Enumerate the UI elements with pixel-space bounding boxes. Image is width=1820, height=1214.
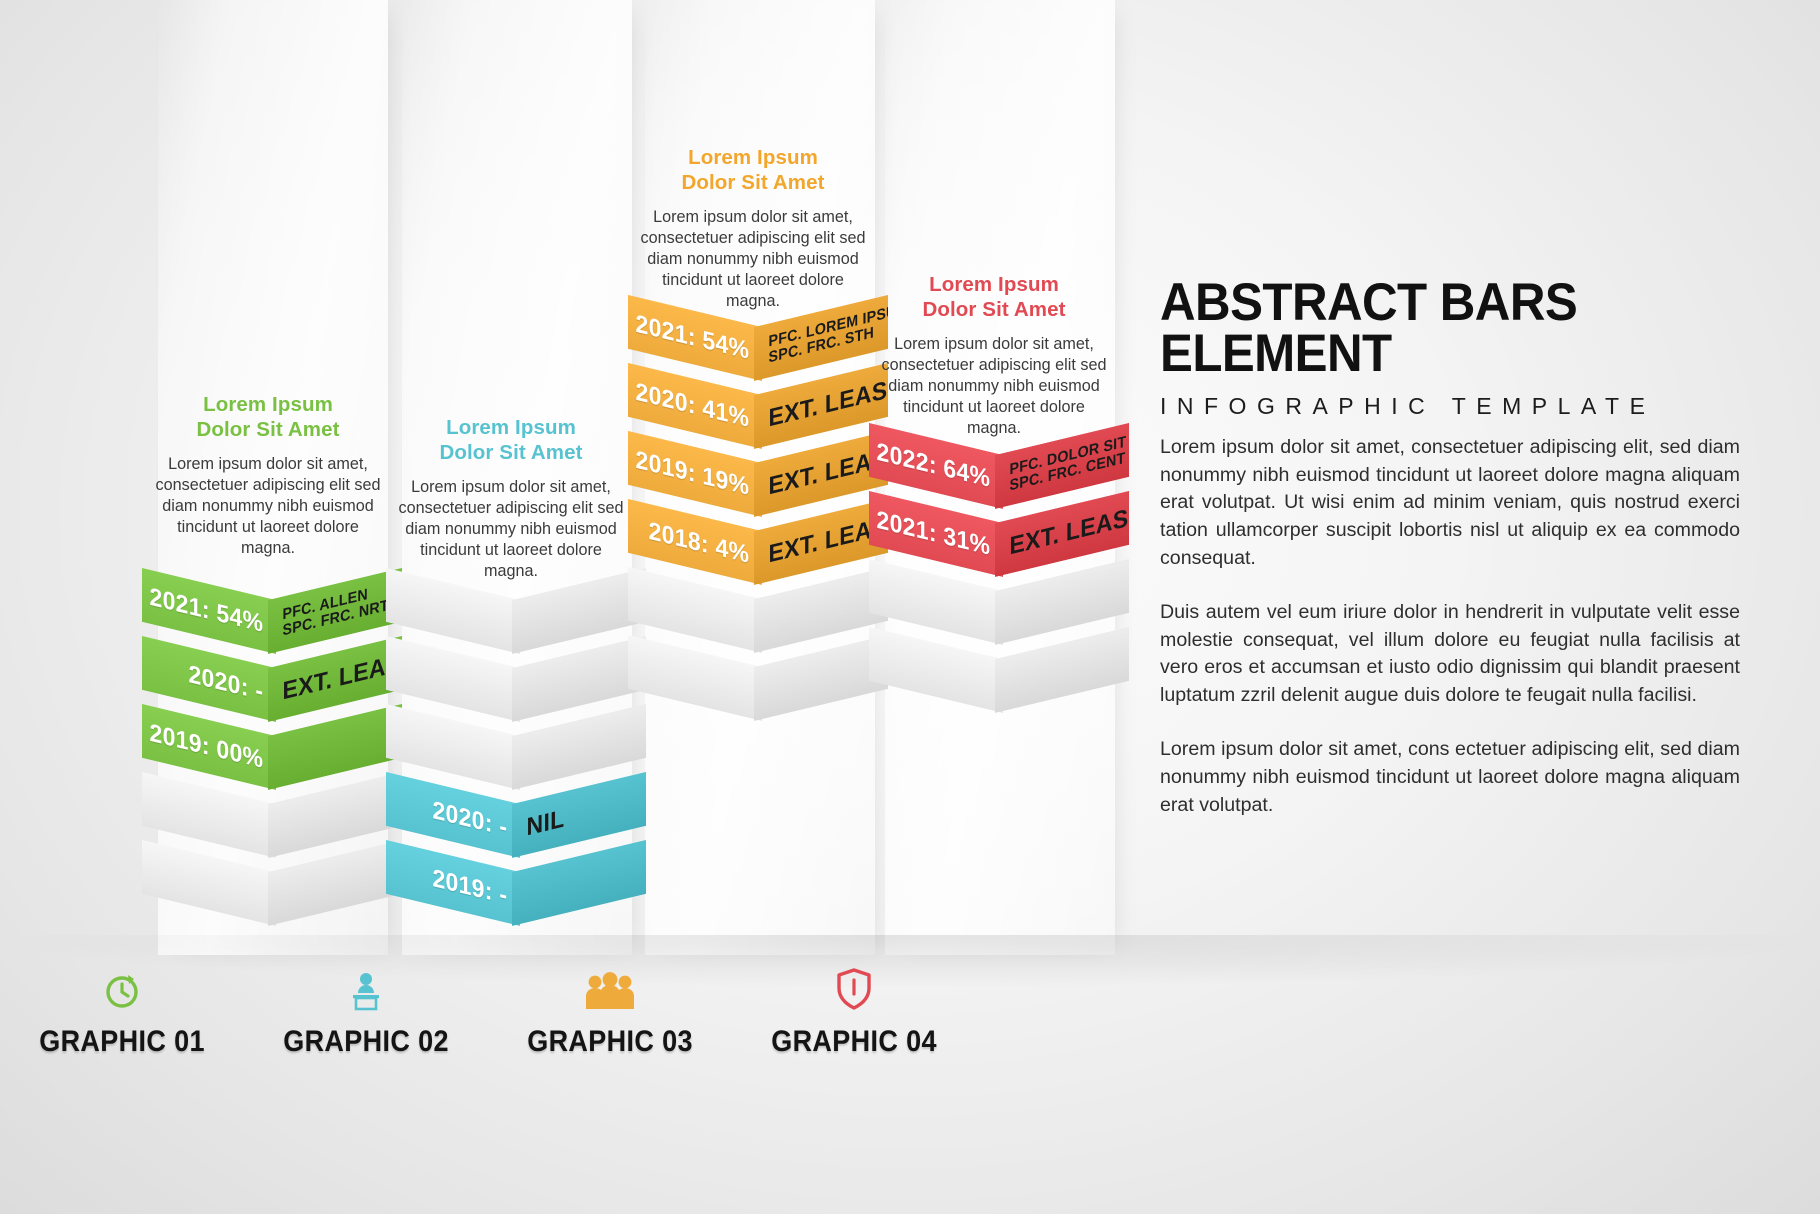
column-text-01: Lorem Ipsum Dolor Sit Amet Lorem ipsum d… (152, 392, 384, 559)
page-title: ABSTRACT BARS ELEMENT (1160, 278, 1699, 380)
column-heading-03: Lorem Ipsum Dolor Sit Amet (637, 145, 869, 195)
column-text-04: Lorem Ipsum Dolor Sit Amet Lorem ipsum d… (878, 272, 1110, 439)
column-text-02: Lorem Ipsum Dolor Sit Amet Lorem ipsum d… (395, 415, 627, 582)
footer-item-label: GRAPHIC 01 (39, 1025, 205, 1059)
column-body-02: Lorem ipsum dolor sit amet, consectetuer… (395, 477, 627, 582)
chevron-stack-04: 2022: 64%PFC. DOLOR SIT AMETSPC. FRC. CE… (869, 455, 1129, 727)
person-lectern-icon (346, 965, 386, 1011)
column-heading-01: Lorem Ipsum Dolor Sit Amet (152, 392, 384, 442)
page-subtitle: INFOGRAPHIC TEMPLATE (1160, 393, 1740, 420)
chevron-bar-empty (628, 667, 888, 721)
article-paragraph-3: Lorem ipsum dolor sit amet, cons ectetue… (1160, 736, 1740, 819)
chevron-stack-01: 2021: 54%PFC. ALLENSPC. FRC. NRTH2020: -… (142, 600, 402, 940)
group-people-icon (584, 965, 636, 1011)
column-body-01: Lorem ipsum dolor sit amet, consectetuer… (152, 454, 384, 559)
heading-line-2: Dolor Sit Amet (439, 441, 582, 464)
footer-item-label: GRAPHIC 02 (283, 1025, 449, 1059)
chevron-bar-empty (142, 872, 402, 926)
heading-line-1: Lorem Ipsum (688, 146, 818, 169)
column-heading-04: Lorem Ipsum Dolor Sit Amet (878, 272, 1110, 322)
chevron-bar-empty (869, 659, 1129, 713)
footer-item-04[interactable]: GRAPHIC 04 (732, 965, 976, 1059)
infographic-canvas: Lorem Ipsum Dolor Sit Amet Lorem ipsum d… (0, 0, 1820, 1214)
shield-icon (835, 965, 873, 1011)
footer-item-03[interactable]: GRAPHIC 03 (488, 965, 732, 1059)
footer-item-02[interactable]: GRAPHIC 02 (244, 965, 488, 1059)
chevron-bar: 2019: - (386, 872, 646, 926)
column-body-03: Lorem ipsum dolor sit amet, consectetuer… (637, 207, 869, 312)
heading-line-1: Lorem Ipsum (446, 416, 576, 439)
footer-icon-row: GRAPHIC 01GRAPHIC 02GRAPHIC 03GRAPHIC 04 (0, 965, 1110, 1059)
footer-item-label: GRAPHIC 03 (527, 1025, 693, 1059)
heading-line-2: Dolor Sit Amet (196, 418, 339, 441)
heading-line-2: Dolor Sit Amet (922, 298, 1065, 321)
column-text-03: Lorem Ipsum Dolor Sit Amet Lorem ipsum d… (637, 145, 869, 312)
article-paragraph-1: Lorem ipsum dolor sit amet, consectetuer… (1160, 434, 1740, 573)
clock-icon (102, 965, 142, 1011)
heading-line-1: Lorem Ipsum (203, 393, 333, 416)
footer-item-label: GRAPHIC 04 (771, 1025, 937, 1059)
chevron-stack-03: 2021: 54%PFC. LOREM IPSUMSPC. FRC. STH20… (628, 327, 888, 735)
article-paragraph-2: Duis autem vel eum iriure dolor in hendr… (1160, 599, 1740, 710)
chevron-stack-02: 2020: -NIL2019: - (386, 600, 646, 940)
footer-item-01[interactable]: GRAPHIC 01 (0, 965, 244, 1059)
article-block: ABSTRACT BARS ELEMENT INFOGRAPHIC TEMPLA… (1160, 278, 1740, 846)
column-body-04: Lorem ipsum dolor sit amet, consectetuer… (878, 334, 1110, 439)
heading-line-2: Dolor Sit Amet (681, 171, 824, 194)
column-heading-02: Lorem Ipsum Dolor Sit Amet (395, 415, 627, 465)
heading-line-1: Lorem Ipsum (929, 273, 1059, 296)
